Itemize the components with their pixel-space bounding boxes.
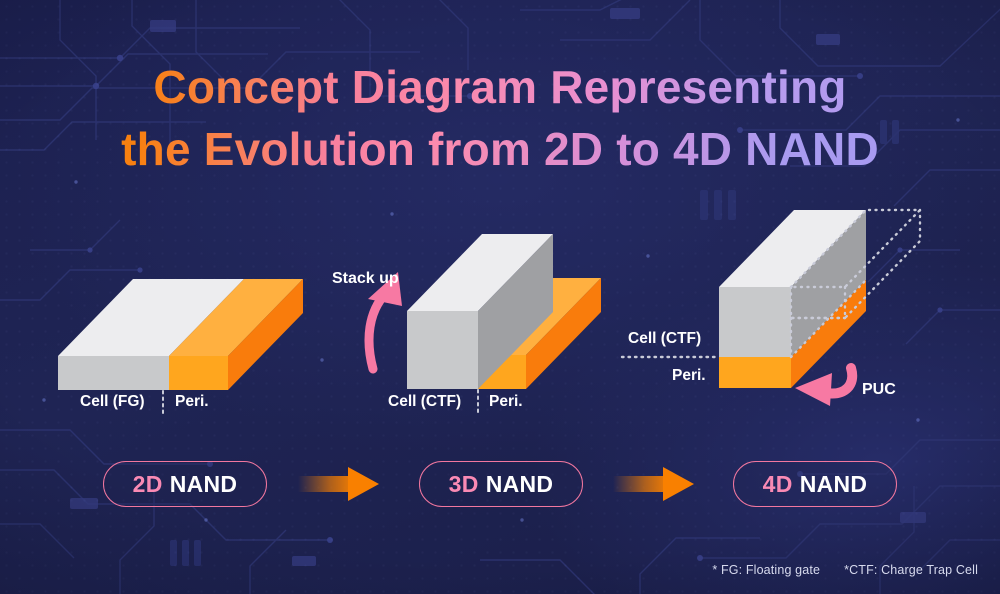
pill-4d-name: NAND: [800, 471, 868, 498]
title-block: Concept Diagram Representing the Evoluti…: [0, 56, 1000, 180]
block-4d-nand: [622, 210, 920, 406]
footnote-fg: * FG: Floating gate: [712, 563, 820, 577]
pill-2d-nand[interactable]: 2D NAND: [103, 461, 267, 507]
pill-3d-name: NAND: [486, 471, 554, 498]
block-3d-peri-label: Peri.: [489, 393, 523, 411]
progress-arrow-1: [298, 467, 379, 501]
block-4d-peri-label: Peri.: [672, 367, 706, 385]
footnote-ctf: *CTF: Charge Trap Cell: [844, 563, 978, 577]
block-2d-cell-front: [58, 356, 169, 390]
stack-up-label: Stack up: [332, 270, 399, 288]
pill-3d-gen: 3D: [449, 471, 479, 498]
pill-2d-name: NAND: [170, 471, 238, 498]
title-line-2: the Evolution from 2D to 4D NAND: [0, 118, 1000, 180]
block-2d-cell-label: Cell (FG): [80, 393, 145, 411]
pill-3d-nand[interactable]: 3D NAND: [419, 461, 583, 507]
block-2d-peri-label: Peri.: [175, 393, 209, 411]
stack-up-arrow: [369, 294, 385, 369]
block-4d-cell-label: Cell (CTF): [628, 330, 701, 348]
puc-label: PUC: [862, 381, 896, 399]
footnote: * FG: Floating gate *CTF: Charge Trap Ce…: [712, 563, 978, 577]
block-3d-nand: [368, 234, 601, 414]
block-4d-peri-front: [719, 357, 791, 388]
progress-arrow-2: [613, 467, 694, 501]
block-3d-cell-label: Cell (CTF): [388, 393, 461, 411]
block-4d-cell-front: [719, 287, 791, 357]
pill-2d-gen: 2D: [133, 471, 163, 498]
pill-4d-gen: 4D: [763, 471, 793, 498]
infographic-canvas: Concept Diagram Representing the Evoluti…: [0, 0, 1000, 594]
pill-4d-nand[interactable]: 4D NAND: [733, 461, 897, 507]
block-3d-cell-front: [407, 311, 478, 389]
block-2d-peri-front: [169, 356, 228, 390]
title-line-1: Concept Diagram Representing: [0, 56, 1000, 118]
